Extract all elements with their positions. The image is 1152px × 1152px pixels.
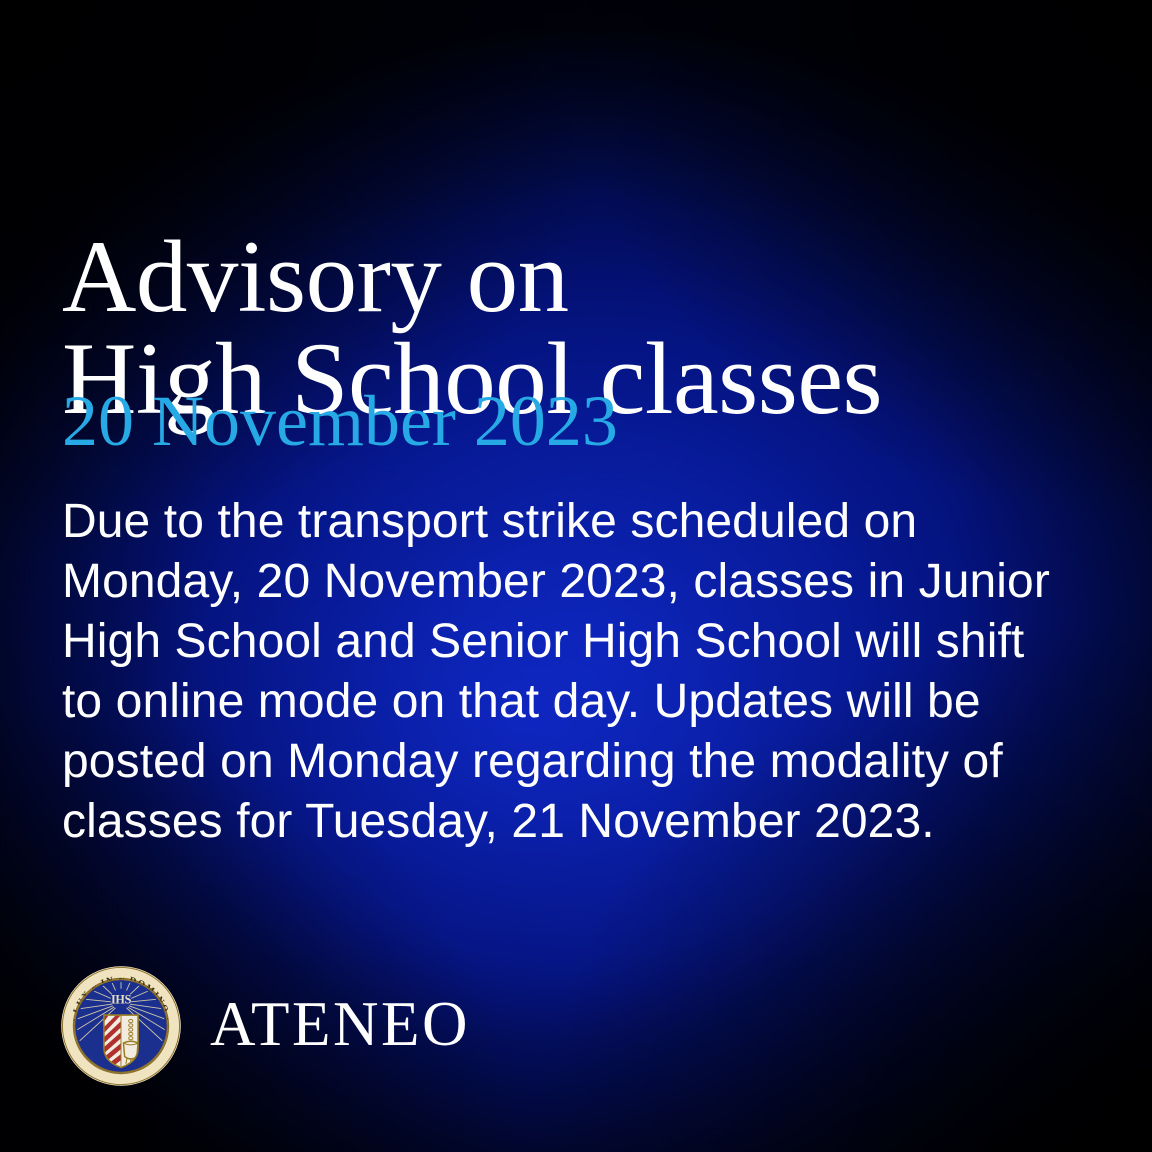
body-line-1: Due to the transport strike scheduled on — [62, 492, 1092, 552]
body-line-6: classes for Tuesday, 21 November 2023. — [62, 792, 1092, 852]
advisory-body-text: Due to the transport strike scheduled on… — [62, 492, 1092, 852]
svg-text:IHS: IHS — [111, 992, 132, 1006]
body-line-4: to online mode on that day. Updates will… — [62, 672, 1092, 732]
poster-content: Advisory on High School classes 20 Novem… — [0, 0, 1152, 1152]
body-line-2: Monday, 20 November 2023, classes in Jun… — [62, 552, 1092, 612]
brand-lockup: · LUX ~ IN ~ DOMINO · ATENEO DE MANILA — [60, 965, 470, 1087]
headline-line-1: Advisory on — [62, 227, 1082, 329]
ateneo-seal-icon: · LUX ~ IN ~ DOMINO · ATENEO DE MANILA — [60, 965, 182, 1087]
advisory-date: 20 November 2023 — [62, 385, 618, 457]
body-line-3: High School and Senior High School will … — [62, 612, 1092, 672]
advisory-poster: Advisory on High School classes 20 Novem… — [0, 0, 1152, 1152]
body-line-5: posted on Monday regarding the modality … — [62, 732, 1092, 792]
ateneo-wordmark: ATENEO — [210, 993, 470, 1060]
